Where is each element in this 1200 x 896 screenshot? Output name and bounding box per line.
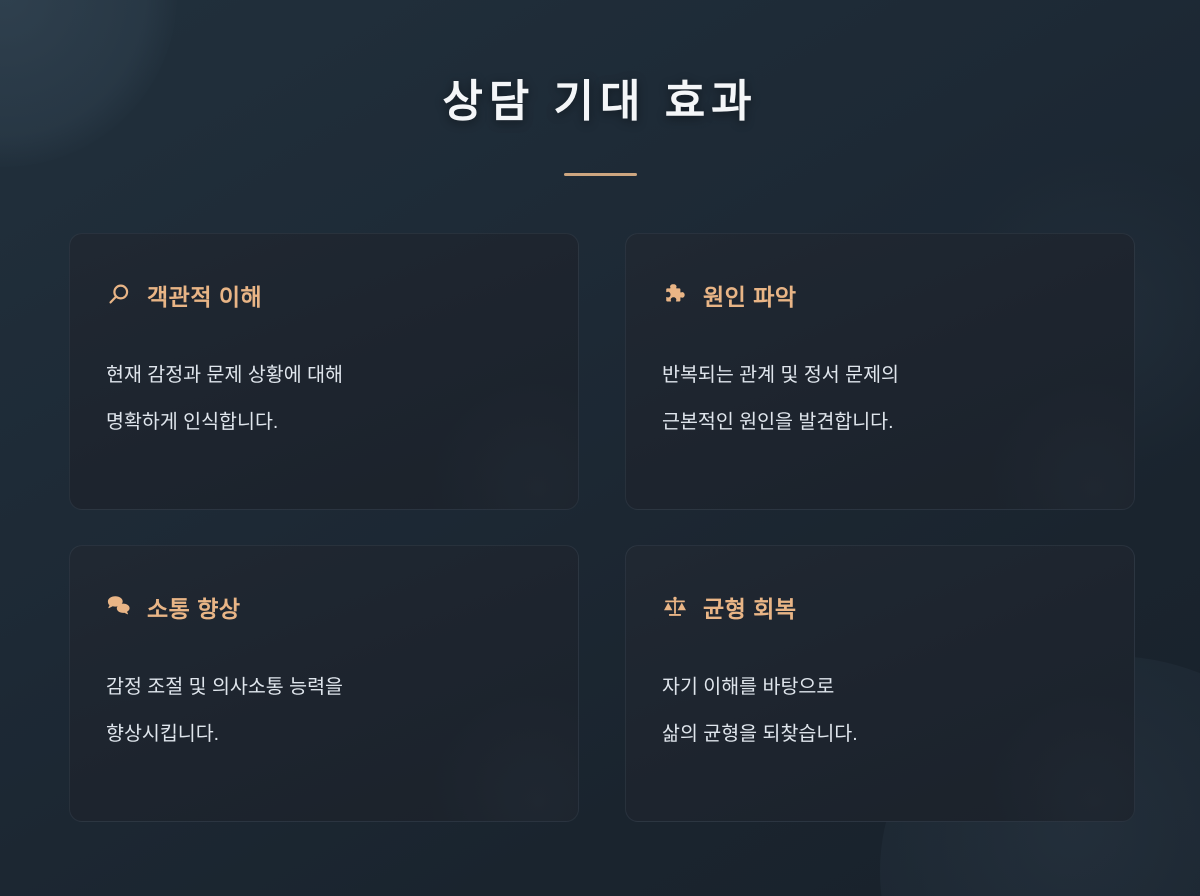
- section-header: 상담 기대 효과: [0, 0, 1200, 176]
- card-body-line: 명확하게 인식합니다.: [106, 399, 542, 446]
- card-body-line: 근본적인 원인을 발견합니다.: [662, 399, 1098, 446]
- card-title: 균형 회복: [703, 590, 797, 624]
- page-title: 상담 기대 효과: [0, 76, 1200, 129]
- speech-bubbles-icon: [106, 594, 132, 620]
- card-body: 자기 이해를 바탕으로 삶의 균형을 되찾습니다.: [662, 664, 1098, 758]
- card-body-line: 삶의 균형을 되찾습니다.: [662, 711, 1098, 758]
- card-body: 감정 조절 및 의사소통 능력을 향상시킵니다.: [106, 664, 542, 758]
- card-header: 객관적 이해: [106, 280, 542, 310]
- benefit-card-communication-improvement[interactable]: 소통 향상 감정 조절 및 의사소통 능력을 향상시킵니다.: [69, 545, 579, 822]
- card-body-line: 향상시킵니다.: [106, 711, 542, 758]
- benefit-card-balance-recovery[interactable]: 균형 회복 자기 이해를 바탕으로 삶의 균형을 되찾습니다.: [625, 545, 1135, 822]
- puzzle-piece-icon: [662, 282, 688, 308]
- title-divider: [564, 173, 637, 176]
- card-title: 소통 향상: [147, 590, 241, 624]
- card-body-line: 자기 이해를 바탕으로: [662, 664, 1098, 711]
- card-title: 원인 파악: [703, 278, 797, 312]
- card-header: 균형 회복: [662, 592, 1098, 622]
- balance-scale-icon: [662, 594, 688, 620]
- benefit-card-objective-understanding[interactable]: 객관적 이해 현재 감정과 문제 상황에 대해 명확하게 인식합니다.: [69, 233, 579, 510]
- page-root: 상담 기대 효과 객관적 이해 현재 감정과 문제 상황에 대해 명확하게 인식…: [0, 0, 1200, 896]
- benefit-card-grid: 객관적 이해 현재 감정과 문제 상황에 대해 명확하게 인식합니다. 원인 파…: [69, 233, 1131, 822]
- card-body-line: 감정 조절 및 의사소통 능력을: [106, 664, 542, 711]
- card-body-line: 현재 감정과 문제 상황에 대해: [106, 352, 542, 399]
- card-title: 객관적 이해: [147, 278, 262, 312]
- card-body-line: 반복되는 관계 및 정서 문제의: [662, 352, 1098, 399]
- card-body: 반복되는 관계 및 정서 문제의 근본적인 원인을 발견합니다.: [662, 352, 1098, 446]
- card-header: 소통 향상: [106, 592, 542, 622]
- card-header: 원인 파악: [662, 280, 1098, 310]
- benefit-card-cause-identification[interactable]: 원인 파악 반복되는 관계 및 정서 문제의 근본적인 원인을 발견합니다.: [625, 233, 1135, 510]
- card-body: 현재 감정과 문제 상황에 대해 명확하게 인식합니다.: [106, 352, 542, 446]
- search-icon: [106, 282, 132, 308]
